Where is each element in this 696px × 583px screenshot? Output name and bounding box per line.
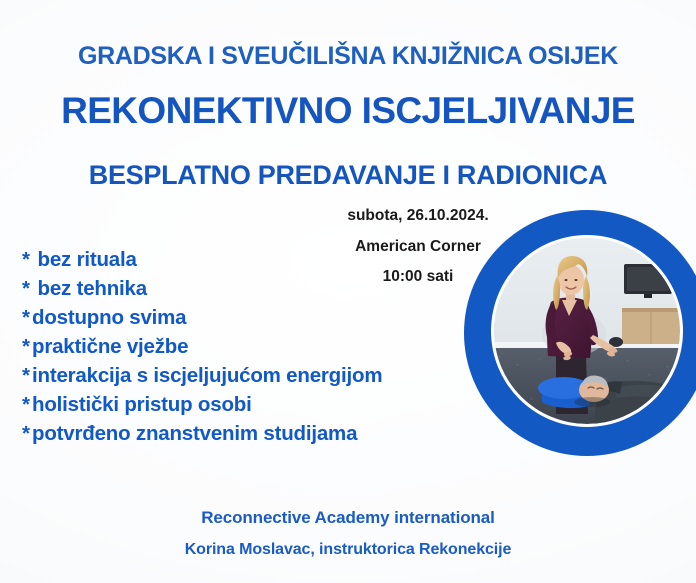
footer: Reconnective Academy international Korin… [0, 508, 696, 559]
bullet-star-icon: * [22, 390, 32, 419]
organization-name: GRADSKA I SVEUČILIŠNA KNJIŽNICA OSIJEK [0, 42, 696, 71]
list-item-label: bez tehnika [32, 277, 147, 300]
event-date: subota, 26.10.2024. [318, 208, 518, 224]
bullet-star-icon: * [22, 245, 32, 274]
list-item: *potvrđeno znanstvenim studijama [22, 419, 382, 448]
bullet-star-icon: * [22, 419, 32, 448]
list-item-label: potvrđeno znanstvenim studijama [32, 422, 357, 445]
list-item-label: holistički pristup osobi [32, 393, 252, 416]
bullet-star-icon: * [22, 361, 32, 390]
list-item: * bez rituala [22, 245, 382, 274]
reconnective-healing-session-photo [494, 238, 680, 424]
bullet-star-icon: * [22, 303, 32, 332]
page-title: REKONEKTIVNO ISCJELJIVANJE [0, 90, 696, 132]
feature-list: * bez rituala * bez tehnika *dostupno sv… [22, 245, 382, 448]
photo-illustration [494, 238, 680, 424]
bullet-star-icon: * [22, 274, 32, 303]
list-item-label: interakcija s iscjeljujućom energijom [32, 364, 382, 387]
bullet-star-icon: * [22, 332, 32, 361]
list-item-label: dostupno svima [32, 306, 186, 329]
list-item-label: praktične vježbe [32, 335, 188, 358]
academy-name: Reconnective Academy international [0, 508, 696, 528]
list-item: *praktične vježbe [22, 332, 382, 361]
list-item: *dostupno svima [22, 303, 382, 332]
list-item-label: bez rituala [32, 248, 137, 271]
list-item: *interakcija s iscjeljujućom energijom [22, 361, 382, 390]
instructor-name: Korina Moslavac, instruktorica Rekonekci… [0, 541, 696, 559]
list-item: *holistički pristup osobi [22, 390, 382, 419]
poster-canvas: GRADSKA I SVEUČILIŠNA KNJIŽNICA OSIJEK R… [0, 0, 696, 583]
photo-ring-decoration [464, 210, 696, 456]
page-subtitle: BESPLATNO PREDAVANJE I RADIONICA [0, 160, 696, 191]
list-item: * bez tehnika [22, 274, 382, 303]
